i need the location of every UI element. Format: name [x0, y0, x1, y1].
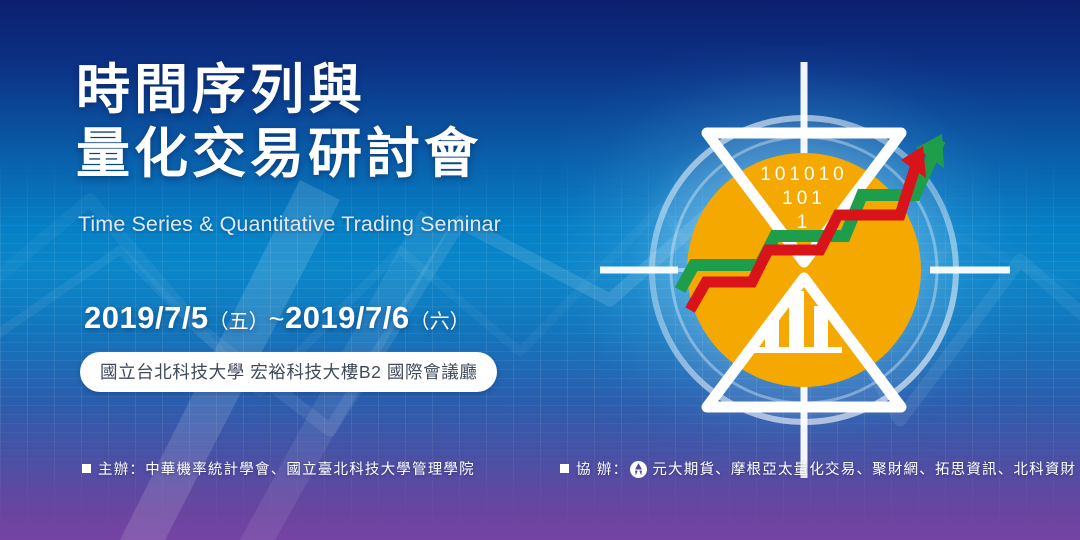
red-arrow-head-icon: [901, 146, 926, 178]
cohost-line: 協 辦： 元大期貨、摩根亞太量化交易、聚財網、拓思資訊、北科資財: [560, 458, 1076, 479]
date-separator: ~: [269, 304, 285, 334]
crosshair-outer-ring-icon: [652, 118, 956, 422]
yuanta-logo-icon: [630, 461, 647, 478]
date-end: 2019/7/6: [285, 300, 410, 335]
bullet-square-icon: [560, 464, 569, 473]
poster-footer: 主辦：中華機率統計學會、國立臺北科技大學管理學院 協 辦： 元大期貨、摩根亞太量…: [0, 452, 1080, 492]
event-date: 2019/7/5（五）~2019/7/6（六）: [84, 300, 470, 336]
host-line: 主辦：中華機率統計學會、國立臺北科技大學管理學院: [82, 458, 475, 479]
emblem-bar-chart-icon: [752, 291, 842, 353]
crosshair-disc-icon: [654, 120, 954, 420]
green-trend-line-icon: [680, 140, 940, 290]
binary-line-1: 101010: [760, 164, 847, 185]
host-label: 主辦：: [98, 458, 145, 479]
crosshair-inner-ring-icon: [671, 137, 937, 403]
venue-badge: 國立台北科技大學 宏裕科技大樓B2 國際會議廳: [80, 352, 497, 392]
date-start: 2019/7/5: [84, 300, 209, 335]
hourglass-icon: [707, 133, 901, 407]
cohost-label: 協 辦：: [576, 458, 628, 479]
host-names: 中華機率統計學會、國立臺北科技大學管理學院: [145, 458, 475, 479]
page-title: 時間序列與 量化交易研討會: [76, 58, 546, 185]
cohost-names: 元大期貨、摩根亞太量化交易、聚財網、拓思資訊、北科資財: [652, 458, 1076, 479]
bullet-square-icon: [82, 464, 91, 473]
subtitle-english: Time Series & Quantitative Trading Semin…: [78, 212, 501, 237]
seminar-poster: 101010 101 1 時間序列與 量化交易研討會 Time Series &…: [0, 0, 1080, 540]
crosshair-inner-arms-icon: [678, 160, 804, 385]
binary-line-3: 1: [797, 212, 812, 233]
green-arrow-head-icon: [916, 134, 944, 168]
red-trend-line-icon: [690, 152, 920, 310]
emblem-orange-circle: [687, 153, 921, 387]
crosshair-arms-icon: [600, 62, 1010, 478]
center-glow: [560, 45, 1040, 465]
binary-text-group: 101010 101 1: [760, 164, 847, 233]
date-end-weekday: （六）: [410, 311, 470, 333]
date-start-weekday: （五）: [209, 311, 269, 333]
binary-line-2: 101: [782, 188, 826, 209]
